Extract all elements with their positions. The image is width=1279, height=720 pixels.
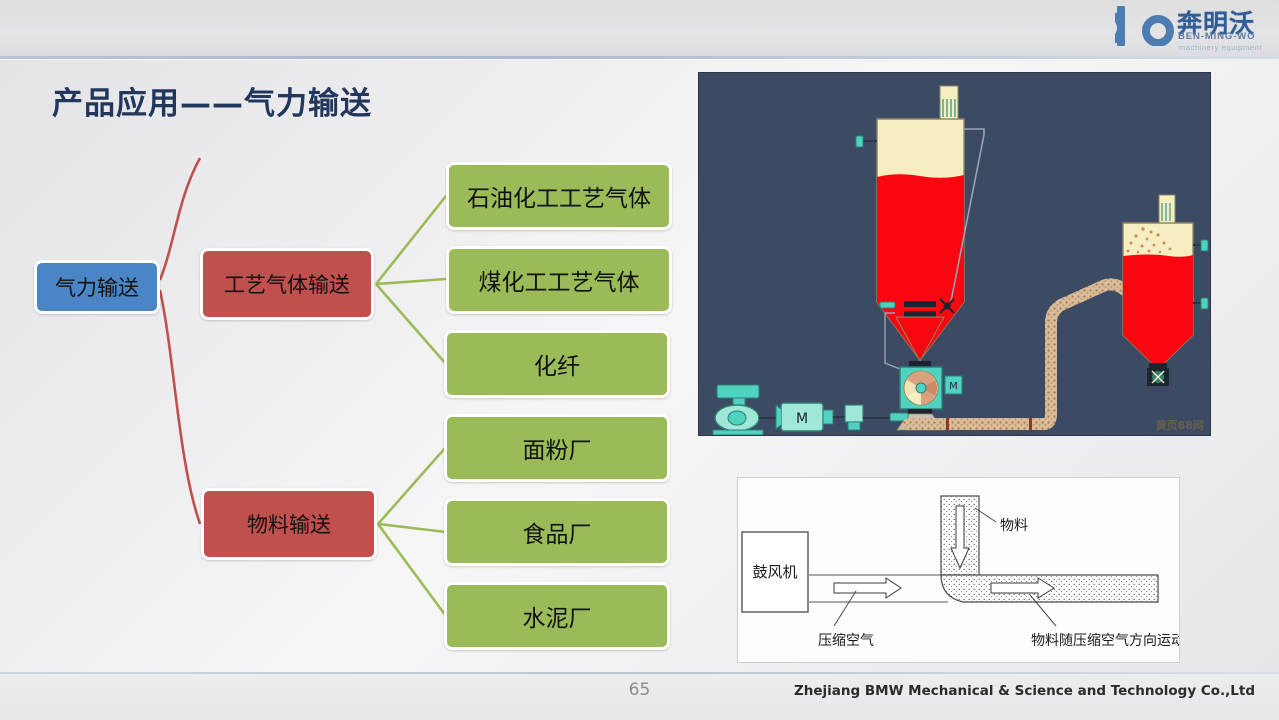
mindmap-leaf-coal-chemical-gas[interactable]: 煤化工工艺气体 — [446, 246, 672, 314]
mindmap-leaf-cement-plant[interactable]: 水泥厂 — [444, 582, 670, 650]
svg-text:M: M — [949, 381, 958, 392]
dilute-phase-conveying-schematic-image: 鼓风机 物料 压缩空气 物料随压缩空气方向运动 — [737, 477, 1180, 663]
mindmap-category-process-gas[interactable]: 工艺气体输送 — [200, 248, 374, 320]
mindmap-leaf-label: 食品厂 — [523, 515, 592, 549]
material-label: 物料 — [1000, 518, 1028, 534]
mindmap-leaf-label: 化纤 — [534, 347, 580, 381]
svg-text:M: M — [796, 411, 808, 427]
pneumatic-system-illustration: M M — [699, 73, 1211, 436]
mindmap-diagram: 气力输送 工艺气体输送 物料输送 石油化工工艺气体 煤化工工艺气体 化纤 面粉厂… — [0, 130, 700, 670]
logo-tagline: machinery equipment — [1179, 43, 1262, 52]
blower-label: 鼓风机 — [752, 563, 797, 581]
mindmap-leaf-label: 水泥厂 — [523, 599, 592, 633]
compressed-air-label: 压缩空气 — [818, 633, 874, 649]
mindmap-category-material[interactable]: 物料输送 — [201, 488, 377, 560]
mindmap-leaf-food-factory[interactable]: 食品厂 — [444, 498, 670, 566]
company-logo: 奔明沃 BEN-MING-WO machinery equipment — [1115, 2, 1271, 56]
pneumatic-conveying-system-image: M M — [698, 72, 1211, 436]
mindmap-leaf-chemical-fiber[interactable]: 化纤 — [444, 330, 670, 398]
mindmap-category-label: 工艺气体输送 — [224, 269, 350, 299]
image-watermark: 黄页88网 — [1156, 417, 1204, 433]
bo-monogram-icon — [1115, 6, 1175, 46]
mindmap-category-label: 物料输送 — [247, 509, 331, 539]
header-divider-highlight — [0, 59, 1279, 60]
company-name: Zhejiang BMW Mechanical & Science and Te… — [794, 683, 1255, 699]
logo-english-name: BEN-MING-WO — [1178, 31, 1255, 42]
slide-canvas: 奔明沃 BEN-MING-WO machinery equipment 产品应用… — [0, 0, 1279, 720]
header-band — [0, 0, 1279, 58]
conveying-schematic-illustration: 鼓风机 物料 压缩空气 物料随压缩空气方向运动 — [738, 478, 1180, 663]
mindmap-leaf-flour-mill[interactable]: 面粉厂 — [444, 414, 670, 482]
mindmap-root-label: 气力输送 — [55, 272, 139, 302]
mindmap-root-node[interactable]: 气力输送 — [34, 260, 160, 314]
mindmap-leaf-petrochemical-gas[interactable]: 石油化工工艺气体 — [446, 162, 672, 230]
material-flow-label: 物料随压缩空气方向运动 — [1031, 633, 1180, 649]
mindmap-leaf-label: 石油化工工艺气体 — [467, 179, 651, 213]
mindmap-leaf-label: 煤化工工艺气体 — [479, 263, 640, 297]
page-title: 产品应用——气力输送 — [52, 78, 372, 123]
mindmap-leaf-label: 面粉厂 — [523, 431, 592, 465]
